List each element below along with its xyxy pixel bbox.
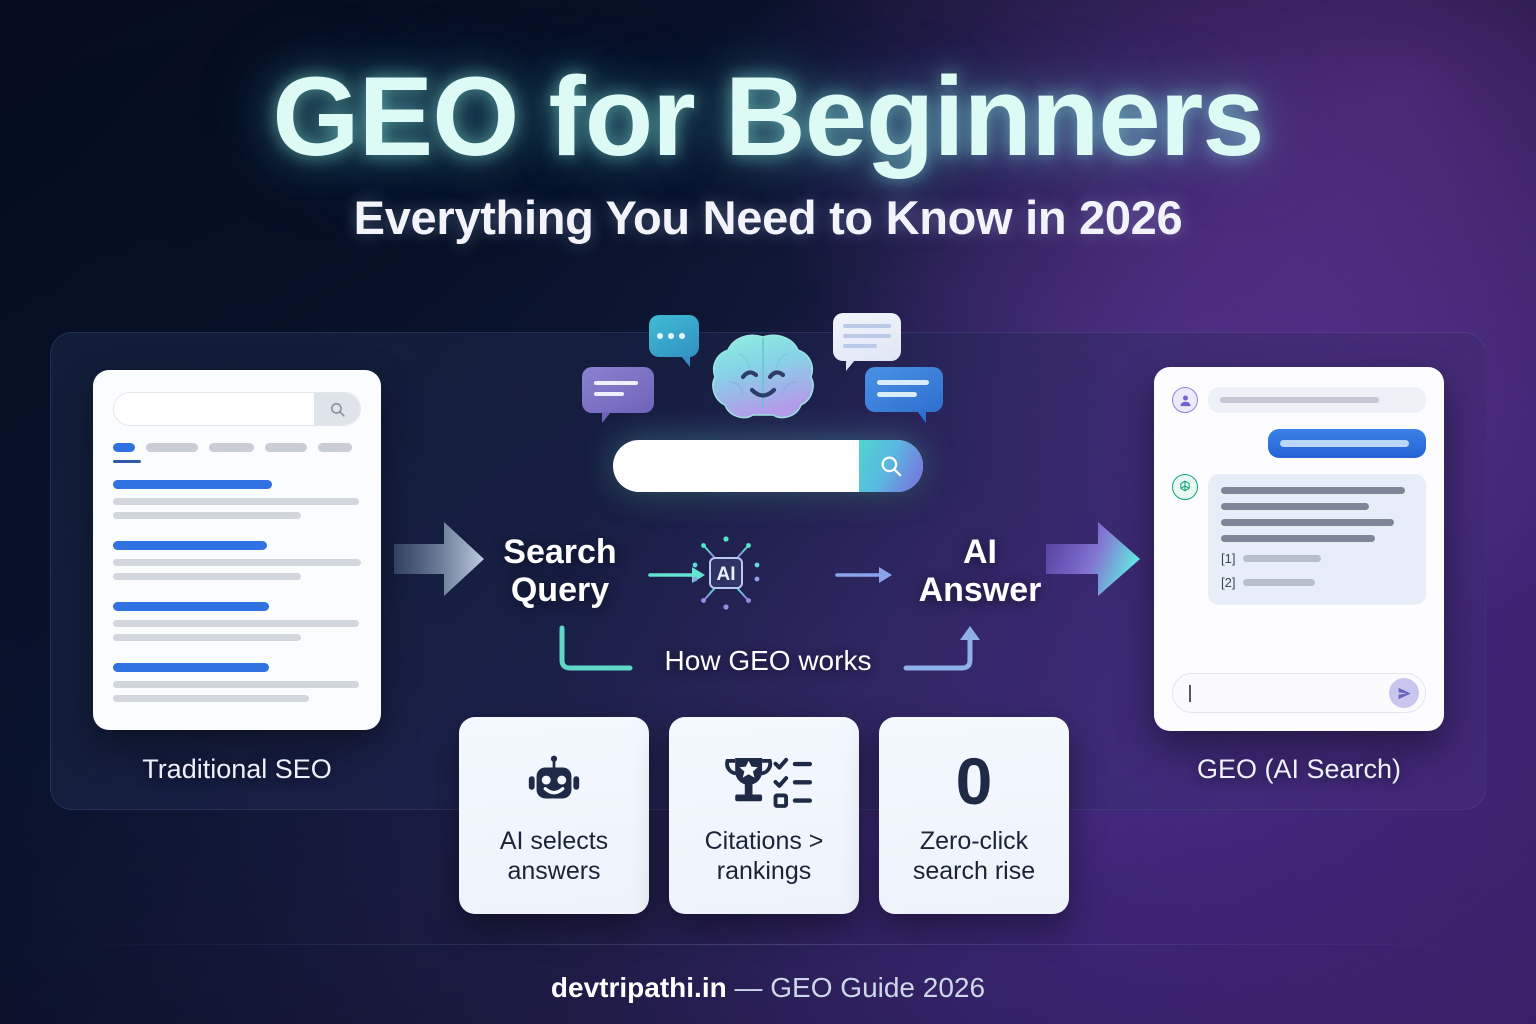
seo-result-line	[113, 681, 359, 688]
footer-divider	[50, 944, 1486, 945]
chat-bubble-white	[833, 313, 901, 361]
citation-row[interactable]: [1]	[1221, 551, 1413, 566]
citation-label[interactable]: [1]	[1221, 551, 1235, 566]
send-button[interactable]	[1389, 678, 1419, 708]
answer-text-line	[1221, 503, 1369, 510]
search-icon	[878, 453, 904, 479]
chat-bubble-purple	[582, 367, 654, 413]
citation-row[interactable]: [2]	[1221, 575, 1413, 590]
openai-glyph-icon	[1177, 479, 1193, 495]
seo-result-item[interactable]	[113, 602, 361, 641]
page-subtitle: Everything You Need to Know in 2026	[0, 190, 1536, 245]
trophy-checklist-icon	[716, 746, 812, 818]
bubble-text-line	[843, 334, 891, 338]
seo-result-line	[113, 695, 309, 702]
feature-card-label: AI selects answers	[500, 826, 608, 886]
seo-result-title	[113, 480, 272, 489]
feature-label-line1: Zero-click	[920, 827, 1028, 855]
ai-conversation-cluster	[565, 305, 975, 445]
chat-input-field[interactable]	[1172, 673, 1426, 713]
seo-result-line	[113, 620, 359, 627]
seo-tab-underline	[113, 460, 141, 463]
seo-search-bar[interactable]	[113, 392, 361, 426]
feature-cards-row: AI selects answers Citations > ra	[459, 717, 1069, 914]
chat-message-user-prompt	[1172, 387, 1426, 413]
feature-label-line2: search rise	[913, 857, 1035, 885]
user-avatar-icon	[1172, 387, 1198, 413]
typing-dots-icon	[657, 333, 685, 339]
seo-tabs-row[interactable]	[113, 443, 361, 452]
seo-tab[interactable]	[318, 443, 352, 452]
answer-text-line	[1221, 487, 1405, 494]
bubble-text-line	[1220, 397, 1379, 403]
how-geo-works-label: How GEO works	[640, 645, 896, 677]
zero-digit: 0	[956, 746, 993, 818]
seo-tab[interactable]	[209, 443, 254, 452]
seo-result-item[interactable]	[113, 480, 361, 519]
flow-arrow-right	[1046, 518, 1142, 600]
seo-result-line	[113, 573, 301, 580]
ai-chip-text: AI	[717, 564, 736, 585]
feature-label-line2: rankings	[717, 857, 812, 885]
footer: devtripathi.in — GEO Guide 2026	[0, 972, 1536, 1004]
person-icon	[1178, 393, 1193, 408]
ai-chip-icon: AI	[685, 533, 767, 615]
send-icon	[1397, 686, 1412, 701]
bubble-text-line	[877, 392, 917, 397]
bubble-text-line	[594, 392, 624, 396]
citation-text-bar	[1243, 555, 1321, 562]
robot-icon	[523, 746, 585, 818]
seo-result-title	[113, 663, 269, 672]
seo-search-button[interactable]	[314, 393, 360, 425]
bubble-tail	[602, 412, 611, 423]
trophy-checklist-glyph-icon	[716, 752, 812, 812]
chat-bubble-incoming	[1208, 387, 1426, 413]
chat-bubble-teal	[649, 315, 699, 357]
seo-result-line	[113, 498, 359, 505]
bubble-text-line	[1280, 440, 1409, 447]
search-icon	[329, 401, 346, 418]
feature-label-line2: answers	[507, 857, 600, 885]
seo-results-list	[113, 480, 361, 702]
seo-tab[interactable]	[265, 443, 307, 452]
seo-tab[interactable]	[146, 443, 198, 452]
feature-card-label: Zero-click search rise	[913, 826, 1035, 886]
feature-card-citations-over-rankings[interactable]: Citations > rankings	[669, 717, 859, 914]
answer-text-line	[1221, 535, 1375, 542]
zero-value: 0	[956, 750, 993, 813]
flow-step-label-line2: Query	[511, 571, 609, 609]
feature-label-line1: AI selects	[500, 827, 608, 855]
feature-label-line1: Citations >	[705, 827, 824, 855]
bubble-text-line	[877, 380, 929, 385]
brain-glyph-icon	[705, 330, 821, 426]
seo-result-item[interactable]	[113, 663, 361, 702]
citation-label[interactable]: [2]	[1221, 575, 1235, 590]
chat-bubble-blue	[865, 367, 943, 412]
bubble-tail	[917, 411, 926, 423]
chat-message-ai-answer: [1] [2]	[1172, 474, 1426, 605]
bubble-tail	[846, 360, 855, 371]
seo-result-title	[113, 602, 269, 611]
flow-arrow-chip-to-answer	[835, 563, 895, 587]
flow-step-ai-answer: AI Answer	[900, 533, 1060, 609]
flow-step-label-line1: AI	[963, 533, 997, 571]
geo-flow-row: Search Query	[480, 525, 1060, 620]
bubble-text-line	[843, 344, 877, 348]
traditional-seo-caption: Traditional SEO	[93, 754, 381, 785]
bubble-tail	[681, 356, 690, 367]
chat-bubble-outgoing	[1268, 429, 1426, 458]
footer-text: — GEO Guide 2026	[727, 972, 985, 1003]
geo-ai-search-mock: [1] [2]	[1154, 367, 1444, 731]
flow-arrow-left	[394, 518, 486, 600]
seo-result-line	[113, 634, 301, 641]
header: GEO for Beginners Everything You Need to…	[0, 58, 1536, 245]
bubble-text-line	[594, 381, 638, 385]
flow-step-label-line2: Answer	[919, 571, 1042, 609]
page-title: GEO for Beginners	[0, 58, 1536, 176]
flow-step-search-query: Search Query	[480, 533, 640, 609]
bubble-text-line	[843, 324, 891, 328]
seo-tab-active[interactable]	[113, 443, 135, 452]
hero-search-button[interactable]	[859, 440, 923, 492]
seo-result-item[interactable]	[113, 541, 361, 580]
text-cursor	[1189, 685, 1191, 702]
seo-result-line	[113, 512, 301, 519]
flow-step-label-line1: Search	[503, 533, 616, 571]
feature-card-ai-selects-answers[interactable]: AI selects answers	[459, 717, 649, 914]
ai-chip-glyph-icon: AI	[685, 533, 767, 615]
openai-logo-icon	[1172, 474, 1198, 500]
seo-result-title	[113, 541, 267, 550]
answer-text-line	[1221, 519, 1394, 526]
traditional-seo-mock	[93, 370, 381, 730]
hero-search-bar[interactable]	[613, 440, 923, 492]
feature-card-label: Citations > rankings	[705, 826, 824, 886]
citation-text-bar	[1243, 579, 1315, 586]
seo-result-line	[113, 559, 361, 566]
smiling-brain-icon	[705, 330, 821, 426]
robot-glyph-icon	[523, 751, 585, 813]
ai-answer-card: [1] [2]	[1208, 474, 1426, 605]
feature-card-zero-click-search-rise[interactable]: 0 Zero-click search rise	[879, 717, 1069, 914]
geo-ai-search-caption: GEO (AI Search)	[1154, 754, 1444, 785]
footer-domain: devtripathi.in	[551, 972, 727, 1003]
